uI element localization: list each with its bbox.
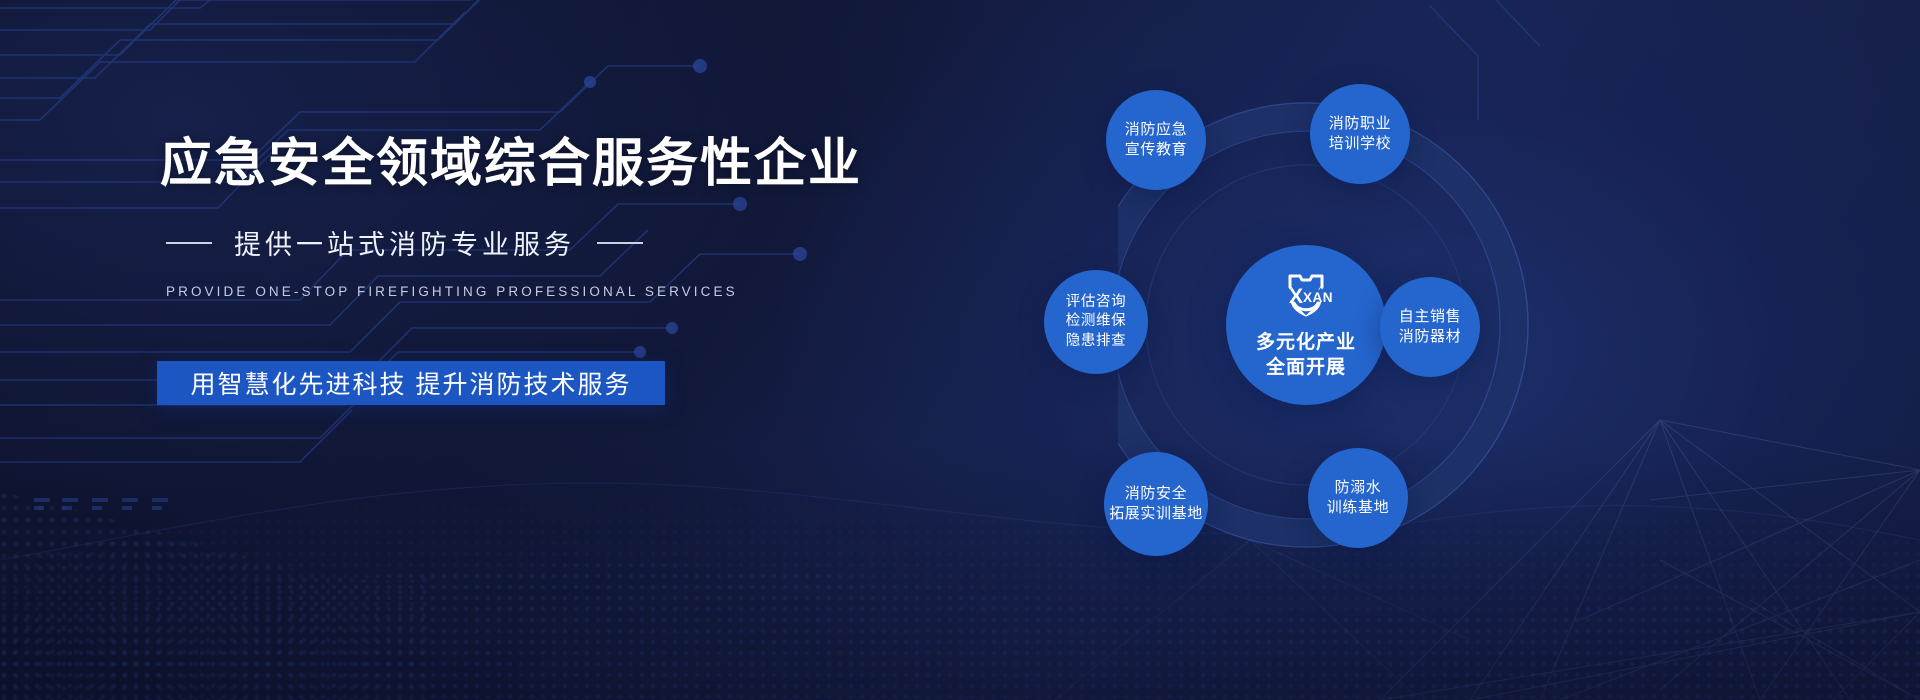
subheadline: 提供一站式消防专业服务 bbox=[234, 223, 575, 262]
node-line-1: 消防应急 bbox=[1125, 120, 1187, 140]
diagram-node-assessment-inspection[interactable]: 评估咨询 检测维保 隐患排查 bbox=[1044, 270, 1148, 374]
cta-label: 用智慧化先进科技 提升消防技术服务 bbox=[191, 365, 632, 401]
services-circle-diagram: X XAN 多元化产业 全面开展 消防应急 宣传教育 消防职业 培训学校 评估咨… bbox=[1118, 72, 1758, 632]
node-line-1: 评估咨询 bbox=[1066, 293, 1126, 312]
page-title: 应急安全领域综合服务性企业 bbox=[160, 134, 900, 195]
node-line-2: 训练基地 bbox=[1327, 498, 1389, 518]
node-line-1: 自主销售 bbox=[1399, 307, 1461, 327]
center-line-1: 多元化产业 bbox=[1256, 331, 1356, 356]
diagram-node-training-base[interactable]: 消防安全 拓展实训基地 bbox=[1104, 452, 1208, 556]
node-line-2: 消防器材 bbox=[1399, 327, 1461, 347]
hero-text-block: 应急安全领域综合服务性企业 提供一站式消防专业服务 PROVIDE ONE-ST… bbox=[160, 134, 900, 299]
diagram-center-node[interactable]: X XAN 多元化产业 全面开展 bbox=[1226, 245, 1386, 405]
node-line-2: 检测维保 bbox=[1066, 312, 1126, 331]
node-line-2: 培训学校 bbox=[1329, 134, 1391, 154]
node-line-1: 消防职业 bbox=[1329, 114, 1391, 134]
diagram-node-equipment-sales[interactable]: 自主销售 消防器材 bbox=[1380, 277, 1480, 377]
node-line-1: 防溺水 bbox=[1335, 478, 1382, 498]
diagram-node-training-school[interactable]: 消防职业 培训学校 bbox=[1310, 84, 1410, 184]
cta-banner-button[interactable]: 用智慧化先进科技 提升消防技术服务 bbox=[157, 361, 665, 405]
shield-icon: X XAN bbox=[1280, 269, 1332, 325]
node-line-2: 拓展实训基地 bbox=[1109, 504, 1203, 524]
rule-right-icon bbox=[597, 242, 643, 244]
english-tagline: PROVIDE ONE-STOP FIREFIGHTING PROFESSION… bbox=[160, 284, 900, 299]
diagram-node-anti-drowning[interactable]: 防溺水 训练基地 bbox=[1308, 448, 1408, 548]
center-node-label: 多元化产业 全面开展 bbox=[1256, 331, 1356, 380]
node-line-3: 隐患排查 bbox=[1066, 332, 1126, 351]
node-line-1: 消防安全 bbox=[1125, 484, 1187, 504]
rule-left-icon bbox=[166, 242, 212, 244]
node-line-2: 宣传教育 bbox=[1125, 140, 1187, 160]
hero-banner: 应急安全领域综合服务性企业 提供一站式消防专业服务 PROVIDE ONE-ST… bbox=[0, 0, 1920, 700]
center-line-2: 全面开展 bbox=[1256, 356, 1356, 381]
diagram-node-emergency-education[interactable]: 消防应急 宣传教育 bbox=[1106, 90, 1206, 190]
subheadline-row: 提供一站式消防专业服务 bbox=[160, 223, 900, 262]
